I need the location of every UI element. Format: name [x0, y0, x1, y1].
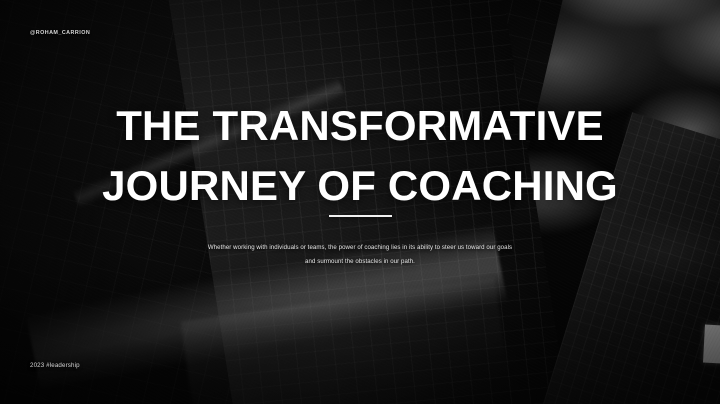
page-title: THE TRANSFORMATIVE JOURNEY OF COACHING: [0, 96, 720, 216]
subtitle-paragraph: Whether working with individuals or team…: [136, 241, 584, 269]
slide-content: @ROHAM_CARRION THE TRANSFORMATIVE JOURNE…: [0, 0, 720, 404]
footer-tagline: 2023 #leadership: [30, 362, 80, 369]
title-line-2: JOURNEY OF COACHING: [0, 156, 720, 216]
title-divider: [329, 215, 392, 217]
presentation-slide: @ROHAM_CARRION THE TRANSFORMATIVE JOURNE…: [0, 0, 720, 404]
author-handle: @ROHAM_CARRION: [30, 30, 90, 36]
subtitle-line-1: Whether working with individuals or team…: [136, 241, 584, 255]
subtitle-line-2: and surmount the obstacles in our path.: [136, 255, 584, 269]
title-line-1: THE TRANSFORMATIVE: [0, 96, 720, 156]
